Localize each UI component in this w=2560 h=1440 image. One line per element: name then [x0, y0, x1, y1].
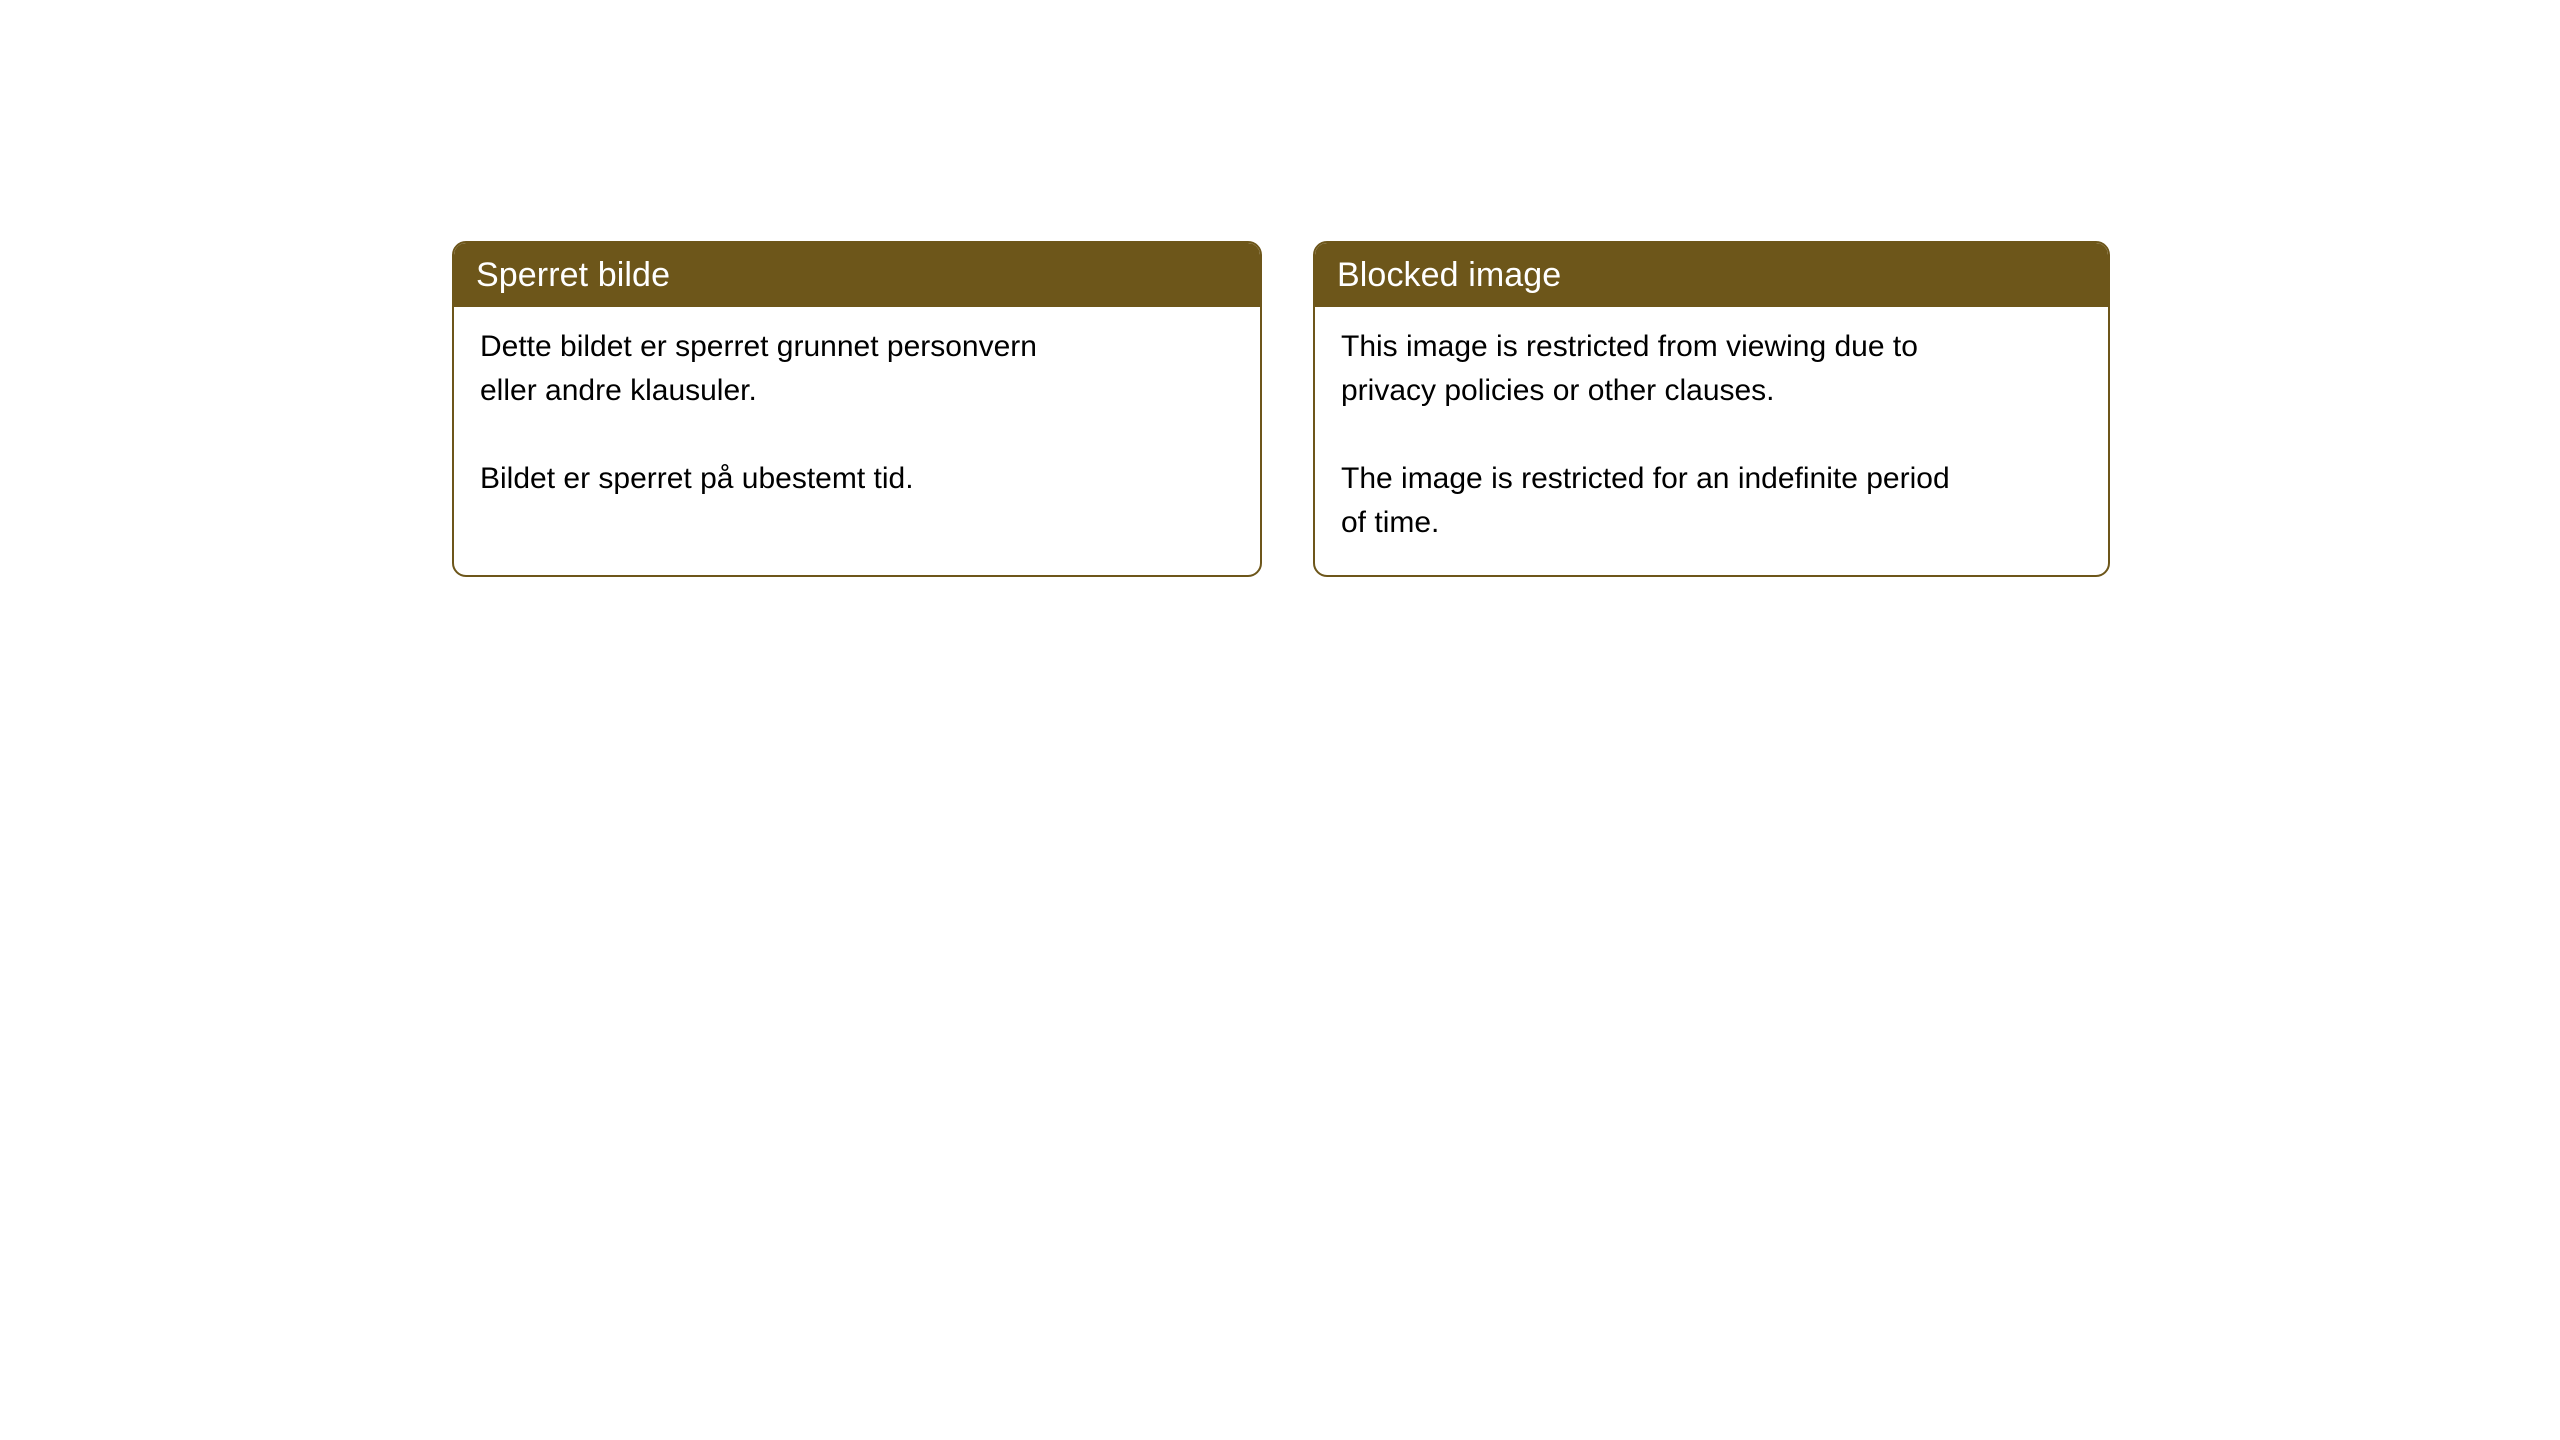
card-paragraph-secondary-english: The image is restricted for an indefinit… [1341, 457, 2084, 545]
blocked-image-card-english: Blocked image This image is restricted f… [1313, 241, 2110, 577]
card-body-norwegian: Dette bildet er sperret grunnet personve… [454, 307, 1260, 501]
card-title-norwegian: Sperret bilde [476, 258, 670, 292]
paragraph-spacer [480, 413, 1236, 457]
card-paragraph-secondary-norwegian: Bildet er sperret på ubestemt tid. [480, 457, 1236, 501]
blocked-image-card-norwegian: Sperret bilde Dette bildet er sperret gr… [452, 241, 1262, 577]
card-paragraph-primary-english: This image is restricted from viewing du… [1341, 325, 2084, 413]
card-header-norwegian: Sperret bilde [454, 243, 1260, 307]
blocked-image-notice-area: Sperret bilde Dette bildet er sperret gr… [0, 0, 2560, 1440]
card-paragraph-primary-norwegian: Dette bildet er sperret grunnet personve… [480, 325, 1236, 413]
card-title-english: Blocked image [1337, 258, 1561, 292]
paragraph-spacer [1341, 413, 2084, 457]
card-body-english: This image is restricted from viewing du… [1315, 307, 2108, 545]
card-header-english: Blocked image [1315, 243, 2108, 307]
